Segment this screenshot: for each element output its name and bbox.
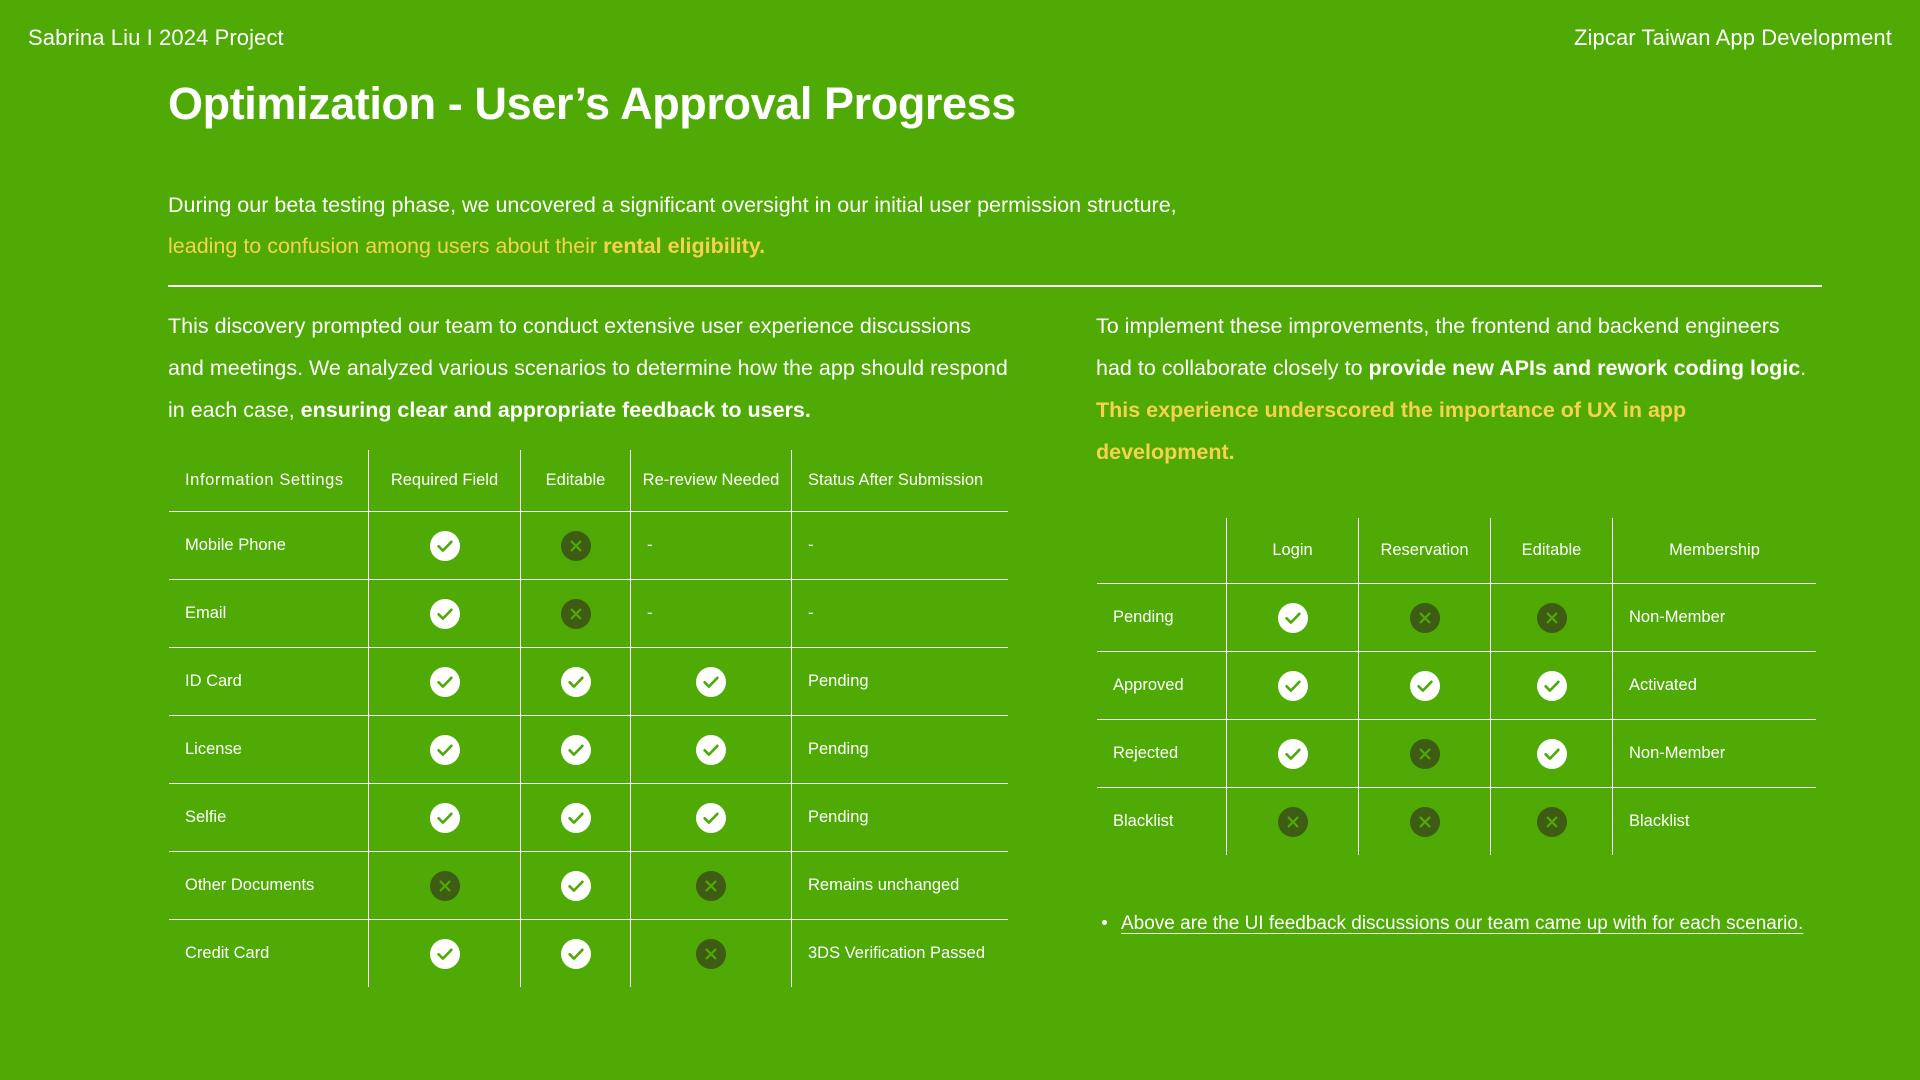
- table-row: Mobile Phone--: [169, 512, 1009, 580]
- cell-editable: [521, 920, 631, 988]
- section-divider: [168, 285, 1822, 287]
- cell-re-review-needed: -: [631, 580, 792, 648]
- cell-editable: [1491, 584, 1613, 652]
- cell-approval-state: Blacklist: [1097, 788, 1227, 856]
- col-header-re-review-needed: Re-review Needed: [631, 450, 792, 512]
- cell-required-field: [369, 716, 521, 784]
- check-circle-icon: [1278, 739, 1308, 769]
- check-circle-icon: [561, 939, 591, 969]
- lead-paragraph-block: During our beta testing phase, we uncove…: [168, 185, 1668, 267]
- cell-status-after-submission: -: [792, 512, 1009, 580]
- cell-required-field: [369, 920, 521, 988]
- col-header-login: Login: [1227, 518, 1359, 584]
- cell-required-field: [369, 784, 521, 852]
- header-author-label: Sabrina Liu I 2024 Project: [28, 25, 284, 51]
- cell-required-field: [369, 512, 521, 580]
- table-row: Credit Card3DS Verification Passed: [169, 920, 1009, 988]
- table-row: ApprovedActivated: [1097, 652, 1817, 720]
- check-circle-icon: [1278, 603, 1308, 633]
- cell-information-setting: Selfie: [169, 784, 369, 852]
- cell-information-setting: ID Card: [169, 648, 369, 716]
- approval-status-table: Login Reservation Editable Membership Pe…: [1096, 517, 1817, 856]
- cell-login: [1227, 584, 1359, 652]
- cell-editable: [521, 580, 631, 648]
- lead-line-1: During our beta testing phase, we uncove…: [168, 185, 1668, 226]
- x-circle-icon: [1410, 739, 1440, 769]
- x-circle-icon: [1278, 807, 1308, 837]
- approval-status-table-wrap: Login Reservation Editable Membership Pe…: [1096, 473, 1817, 856]
- cell-status-after-submission: Pending: [792, 648, 1009, 716]
- cell-editable: [521, 852, 631, 920]
- cell-required-field: [369, 852, 521, 920]
- x-circle-icon: [1410, 603, 1440, 633]
- cell-editable: [1491, 720, 1613, 788]
- cell-status-after-submission: Remains unchanged: [792, 852, 1009, 920]
- footnote-bullet-text: Above are the UI feedback discussions ou…: [1121, 913, 1803, 935]
- cell-reservation: [1359, 720, 1491, 788]
- check-circle-icon: [430, 531, 460, 561]
- table-row: Other DocumentsRemains unchanged: [169, 852, 1009, 920]
- cell-membership: Activated: [1613, 652, 1817, 720]
- table-row: ID CardPending: [169, 648, 1009, 716]
- check-circle-icon: [561, 735, 591, 765]
- cell-login: [1227, 720, 1359, 788]
- table-row: BlacklistBlacklist: [1097, 788, 1817, 856]
- right-column-paragraph: To implement these improvements, the fro…: [1096, 305, 1816, 389]
- col-header-editable: Editable: [521, 450, 631, 512]
- cell-login: [1227, 652, 1359, 720]
- check-circle-icon: [1410, 671, 1440, 701]
- approval-status-thead: Login Reservation Editable Membership: [1097, 518, 1817, 584]
- cell-re-review-needed: [631, 852, 792, 920]
- cell-membership: Blacklist: [1613, 788, 1817, 856]
- cell-membership: Non-Member: [1613, 584, 1817, 652]
- cell-re-review-needed: -: [631, 512, 792, 580]
- cell-login: [1227, 788, 1359, 856]
- check-circle-icon: [430, 599, 460, 629]
- check-circle-icon: [430, 803, 460, 833]
- col-header-editable: Editable: [1491, 518, 1613, 584]
- cell-reservation: [1359, 788, 1491, 856]
- x-circle-icon: [1537, 807, 1567, 837]
- cell-editable: [521, 716, 631, 784]
- cell-information-setting: License: [169, 716, 369, 784]
- check-circle-icon: [1537, 671, 1567, 701]
- cell-approval-state: Approved: [1097, 652, 1227, 720]
- bullet-dot-icon: [1102, 920, 1107, 925]
- check-circle-icon: [561, 871, 591, 901]
- information-settings-table: Information Settings Required Field Edit…: [168, 449, 1009, 988]
- x-circle-icon: [1537, 603, 1567, 633]
- cell-editable: [521, 512, 631, 580]
- x-circle-icon: [696, 871, 726, 901]
- check-circle-icon: [1537, 739, 1567, 769]
- cell-status-after-submission: 3DS Verification Passed: [792, 920, 1009, 988]
- x-circle-icon: [561, 599, 591, 629]
- lead-line-2: leading to confusion among users about t…: [168, 226, 1668, 267]
- x-circle-icon: [561, 531, 591, 561]
- right-column-accent-paragraph: This experience underscored the importan…: [1096, 389, 1816, 473]
- cell-information-setting: Mobile Phone: [169, 512, 369, 580]
- col-header-required-field: Required Field: [369, 450, 521, 512]
- cell-approval-state: Pending: [1097, 584, 1227, 652]
- cell-re-review-needed: [631, 716, 792, 784]
- table-row: RejectedNon-Member: [1097, 720, 1817, 788]
- table-row: PendingNon-Member: [1097, 584, 1817, 652]
- footnote-bullet-row: Above are the UI feedback discussions ou…: [1096, 913, 1816, 935]
- right-paragraph-bold: provide new APIs and rework coding logic: [1369, 356, 1801, 380]
- cell-editable: [521, 648, 631, 716]
- cell-reservation: [1359, 652, 1491, 720]
- cell-editable: [521, 784, 631, 852]
- cell-editable: [1491, 788, 1613, 856]
- cell-re-review-needed: [631, 784, 792, 852]
- right-paragraph-period: .: [1800, 356, 1806, 380]
- table-row: Email--: [169, 580, 1009, 648]
- check-circle-icon: [696, 803, 726, 833]
- cell-information-setting: Email: [169, 580, 369, 648]
- x-circle-icon: [1410, 807, 1440, 837]
- col-header-blank: [1097, 518, 1227, 584]
- header-project-label: Zipcar Taiwan App Development: [1574, 25, 1892, 51]
- information-settings-thead: Information Settings Required Field Edit…: [169, 450, 1009, 512]
- cell-information-setting: Other Documents: [169, 852, 369, 920]
- cell-membership: Non-Member: [1613, 720, 1817, 788]
- table-header-row: Login Reservation Editable Membership: [1097, 518, 1817, 584]
- col-header-reservation: Reservation: [1359, 518, 1491, 584]
- cell-information-setting: Credit Card: [169, 920, 369, 988]
- cell-status-after-submission: Pending: [792, 716, 1009, 784]
- left-column: This discovery prompted our team to cond…: [168, 305, 1008, 993]
- x-circle-icon: [696, 939, 726, 969]
- approval-status-tbody: PendingNon-MemberApprovedActivatedReject…: [1097, 584, 1817, 856]
- table-row: SelfiePending: [169, 784, 1009, 852]
- left-column-paragraph: This discovery prompted our team to cond…: [168, 305, 1008, 431]
- cell-approval-state: Rejected: [1097, 720, 1227, 788]
- cell-re-review-needed: [631, 648, 792, 716]
- check-circle-icon: [430, 667, 460, 697]
- lead-line-2-bold: rental eligibility.: [603, 234, 765, 258]
- check-circle-icon: [696, 735, 726, 765]
- x-circle-icon: [430, 871, 460, 901]
- col-header-membership: Membership: [1613, 518, 1817, 584]
- check-circle-icon: [561, 803, 591, 833]
- cell-required-field: [369, 648, 521, 716]
- check-circle-icon: [1278, 671, 1308, 701]
- cell-required-field: [369, 580, 521, 648]
- information-settings-table-wrap: Information Settings Required Field Edit…: [168, 431, 1009, 988]
- check-circle-icon: [696, 667, 726, 697]
- cell-reservation: [1359, 584, 1491, 652]
- right-column: To implement these improvements, the fro…: [1096, 305, 1816, 935]
- cell-status-after-submission: Pending: [792, 784, 1009, 852]
- check-circle-icon: [430, 735, 460, 765]
- cell-editable: [1491, 652, 1613, 720]
- page-title: Optimization - User’s Approval Progress: [168, 78, 1016, 130]
- check-circle-icon: [561, 667, 591, 697]
- slide-header: Sabrina Liu I 2024 Project Zipcar Taiwan…: [0, 20, 1920, 56]
- check-circle-icon: [430, 939, 460, 969]
- lead-line-2-plain: leading to confusion among users about t…: [168, 234, 603, 258]
- table-row: LicensePending: [169, 716, 1009, 784]
- information-settings-tbody: Mobile Phone--Email--ID CardPendingLicen…: [169, 512, 1009, 988]
- table-header-row: Information Settings Required Field Edit…: [169, 450, 1009, 512]
- cell-re-review-needed: [631, 920, 792, 988]
- col-header-status-after-submission: Status After Submission: [792, 450, 1009, 512]
- cell-status-after-submission: -: [792, 580, 1009, 648]
- left-paragraph-bold: ensuring clear and appropriate feedback …: [301, 398, 811, 422]
- col-header-information-settings: Information Settings: [169, 450, 369, 512]
